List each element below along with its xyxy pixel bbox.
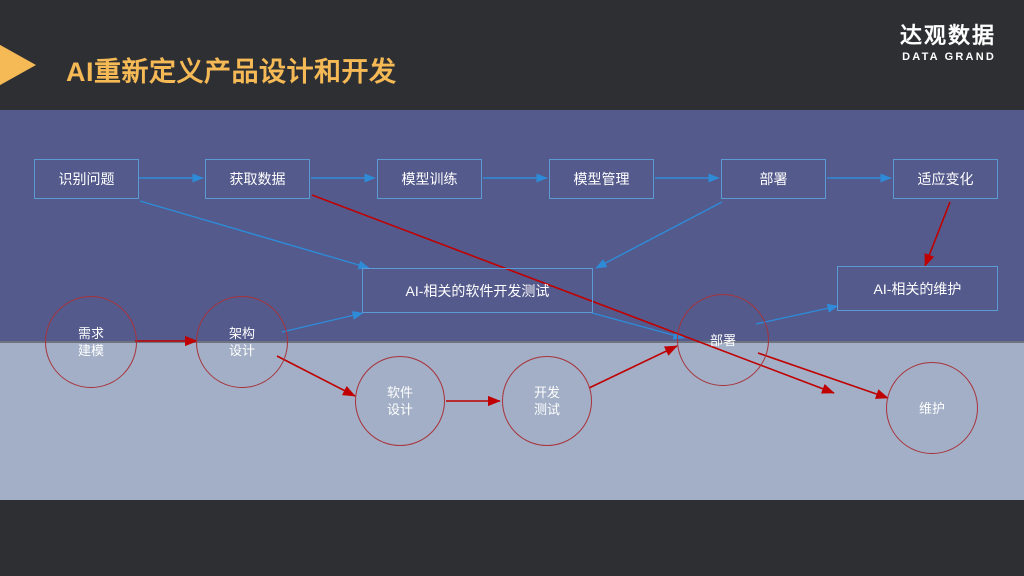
node-identify-problem[interactable]: 识别问题: [34, 159, 139, 199]
node-label: AI-相关的软件开发测试: [406, 282, 550, 300]
node-architecture-design[interactable]: 架构 设计: [196, 296, 288, 388]
node-label-line1: 需求: [78, 325, 104, 342]
node-label: 适应变化: [918, 170, 974, 188]
node-development-test[interactable]: 开发 测试: [502, 356, 592, 446]
node-label-line1: 软件: [387, 384, 413, 401]
node-model-management[interactable]: 模型管理: [549, 159, 654, 199]
node-label: 维护: [919, 400, 945, 417]
node-model-training[interactable]: 模型训练: [377, 159, 482, 199]
node-label: 部署: [760, 170, 788, 188]
node-label: 识别问题: [59, 170, 115, 188]
node-acquire-data[interactable]: 获取数据: [205, 159, 310, 199]
node-deploy[interactable]: 部署: [721, 159, 826, 199]
node-ai-software-dev-test[interactable]: AI-相关的软件开发测试: [362, 268, 593, 313]
node-adapt-change[interactable]: 适应变化: [893, 159, 998, 199]
page-title: AI重新定义产品设计和开发: [66, 50, 397, 89]
footer-bar: [0, 500, 1024, 576]
slide-header: AI重新定义产品设计和开发 达观数据 DATA GRAND: [0, 0, 1024, 110]
node-label: 获取数据: [230, 170, 286, 188]
node-label: 模型管理: [574, 170, 630, 188]
logo-chinese-text: 达观数据: [900, 24, 996, 48]
node-label: AI-相关的维护: [874, 280, 962, 298]
slide: AI重新定义产品设计和开发 达观数据 DATA GRAND: [0, 0, 1024, 576]
node-label: 模型训练: [402, 170, 458, 188]
node-label-line1: 架构: [229, 325, 255, 342]
node-software-design[interactable]: 软件 设计: [355, 356, 445, 446]
node-label-line2: 设计: [387, 401, 413, 418]
node-label-line2: 测试: [534, 401, 560, 418]
brand-logo: 达观数据 DATA GRAND: [900, 24, 996, 64]
node-label-line1: 开发: [534, 384, 560, 401]
node-maintenance-circle[interactable]: 维护: [886, 362, 978, 454]
node-label-line2: 设计: [229, 342, 255, 359]
right-arrow-marker-icon: [0, 36, 36, 94]
node-requirements-modeling[interactable]: 需求 建模: [45, 296, 137, 388]
node-label-line2: 建模: [78, 342, 104, 359]
node-deploy-circle[interactable]: 部署: [677, 294, 769, 386]
node-label: 部署: [710, 332, 736, 349]
diagram-canvas: 识别问题 获取数据 模型训练 模型管理 部署 适应变化 AI-相关的软件开发测试…: [0, 110, 1024, 500]
node-ai-maintenance[interactable]: AI-相关的维护: [837, 266, 998, 311]
logo-english-text: DATA GRAND: [900, 50, 996, 64]
